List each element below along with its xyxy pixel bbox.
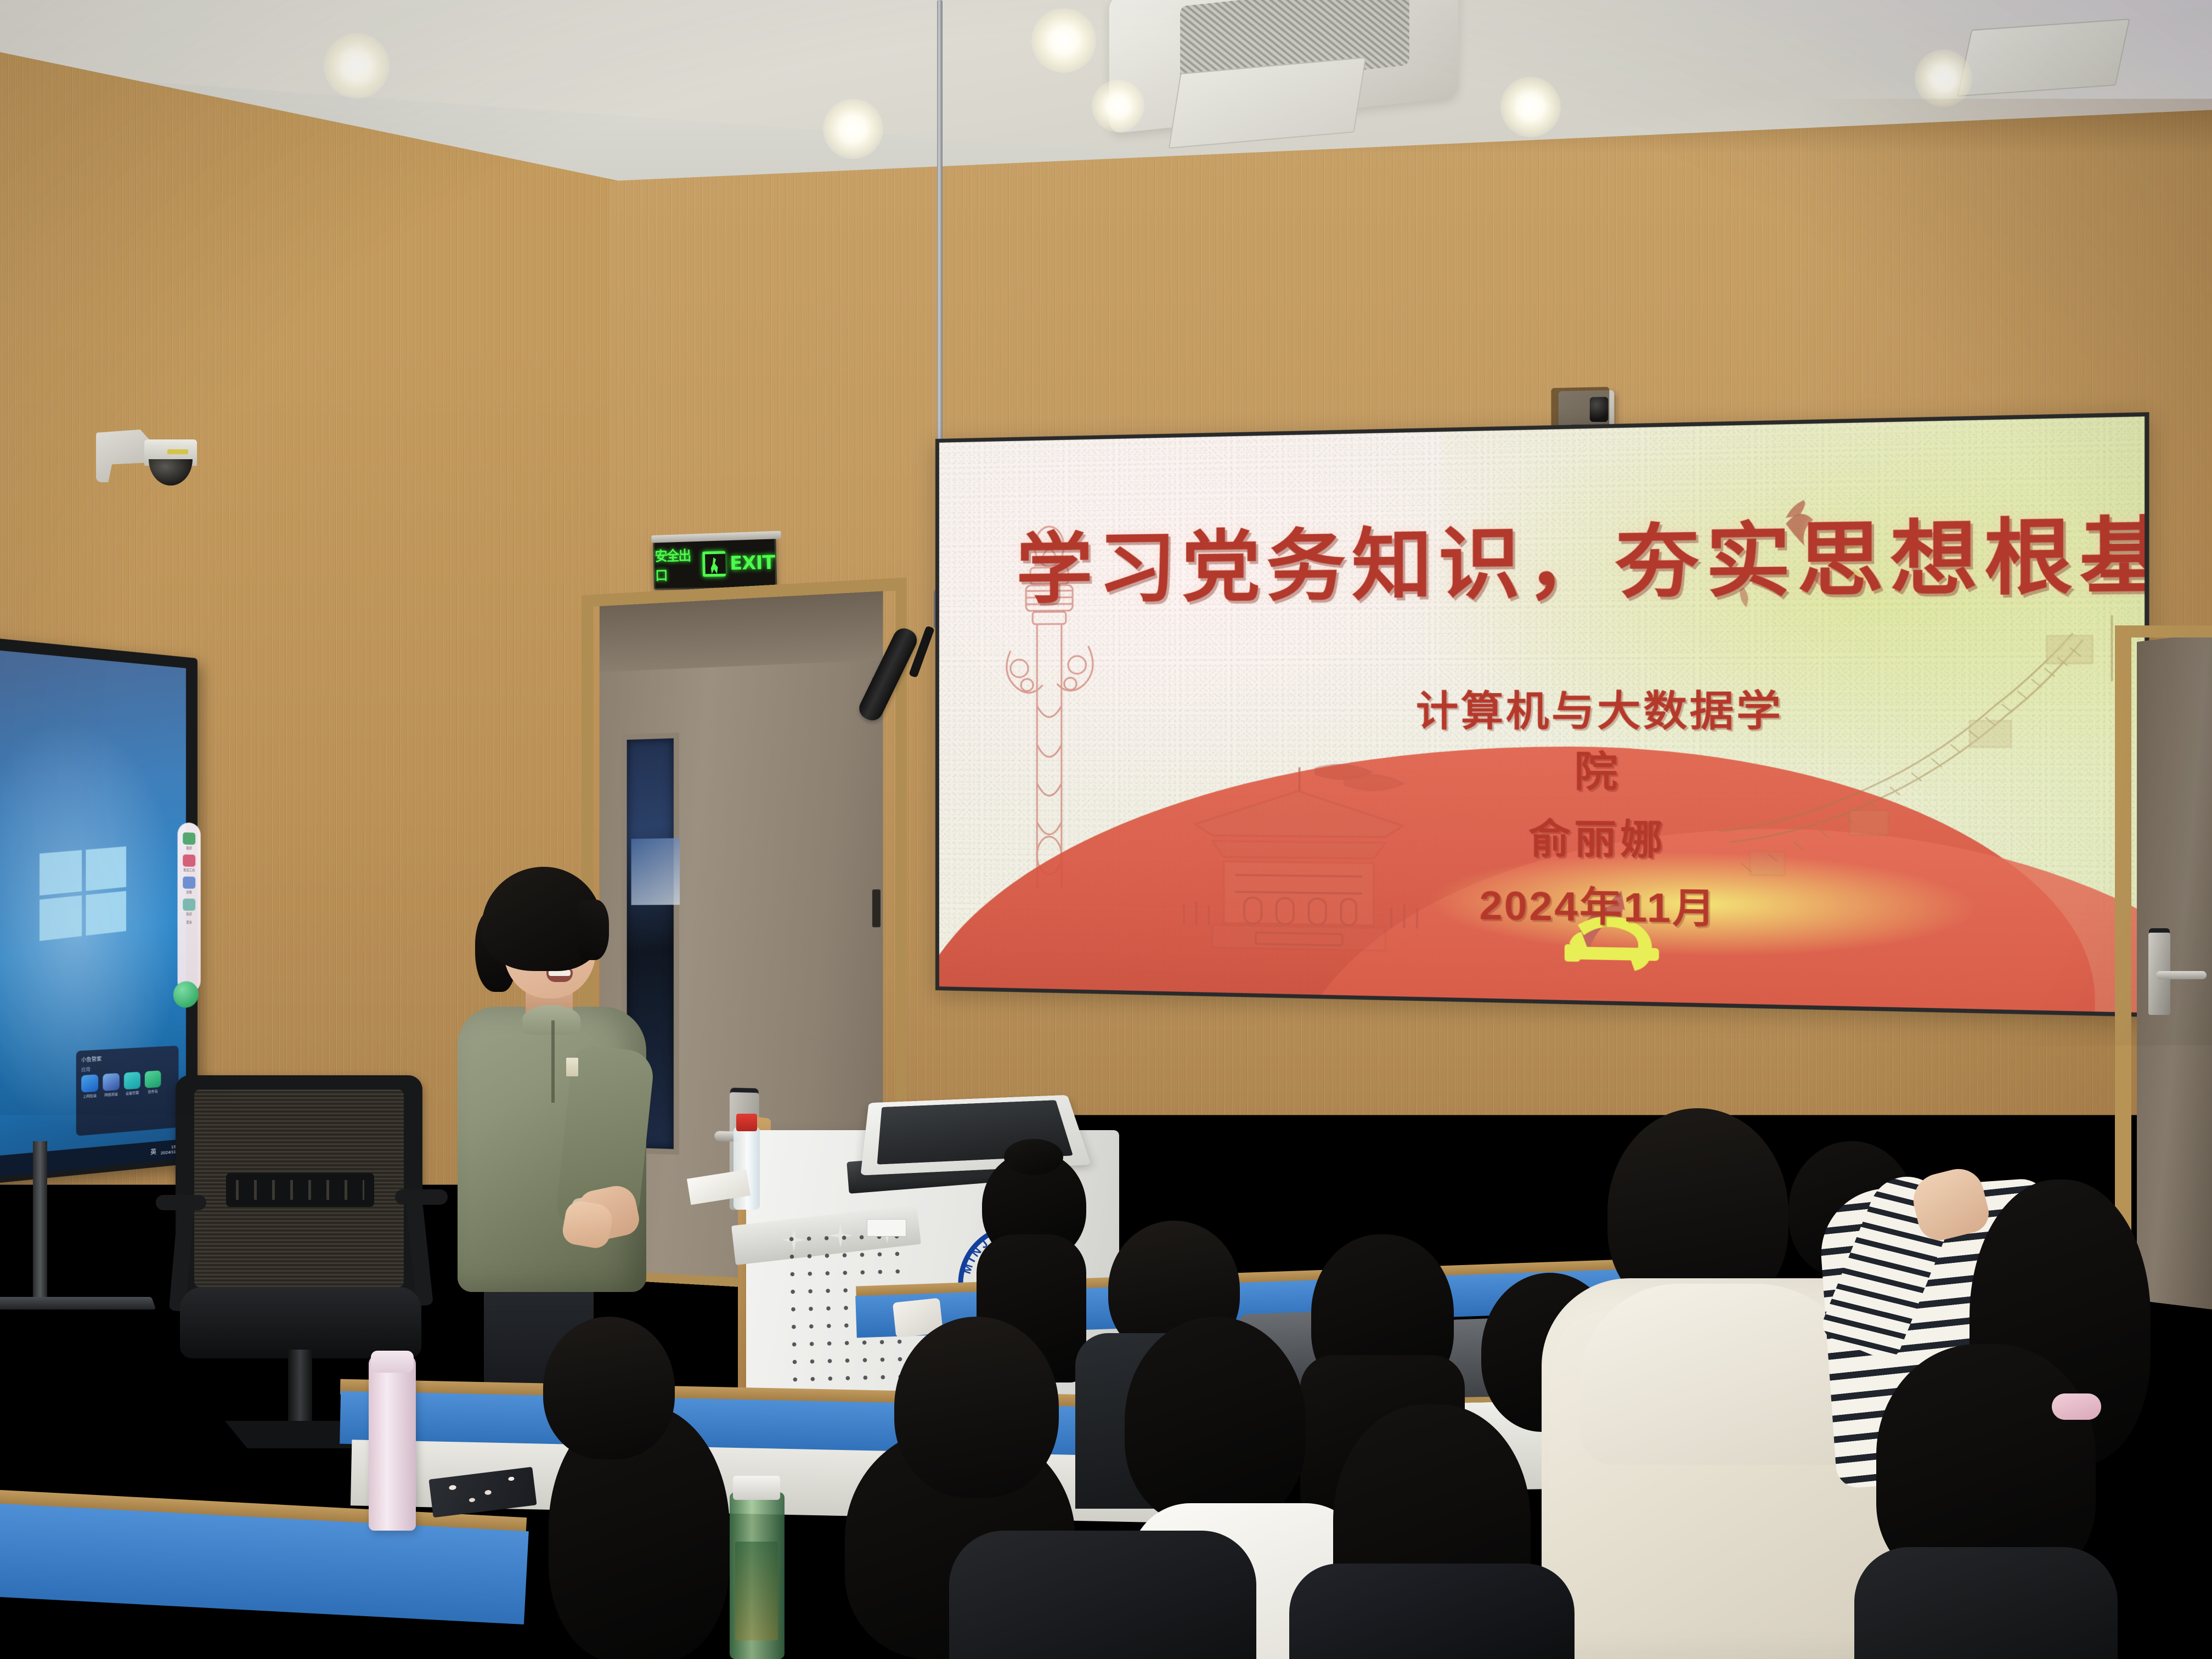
slide-organization: 计算机与大数据学院: [1412, 676, 1787, 799]
water-bottle-cap-icon: [736, 1114, 757, 1131]
app-label-3: 设备管理: [124, 1090, 140, 1096]
dome-camera: [96, 425, 198, 491]
app-icon-4[interactable]: [145, 1070, 161, 1088]
presenter-jacket-placket: [551, 1020, 555, 1103]
camera-brand-label: [167, 449, 188, 454]
downlight-6: [1500, 77, 1561, 137]
tiananmen-gate-icon: [1144, 757, 1456, 975]
slide-title: 学习党务知识，夯实思想根基: [1016, 489, 2145, 618]
ceiling-vent: [1957, 19, 2130, 97]
green-tea-label: [735, 1542, 778, 1640]
toolbar-icon-cast[interactable]: [183, 899, 195, 911]
app-label-4: 软件包: [145, 1088, 161, 1094]
downlight-3: [1031, 8, 1096, 73]
app-label-2: 网络测速: [103, 1091, 120, 1097]
popup-title: 小鱼管家: [81, 1051, 174, 1063]
student-head-front-6: [406, 1514, 636, 1659]
windows-logo-icon: [39, 847, 126, 941]
camera-lens-icon: [1590, 397, 1609, 422]
exit-sign-english-label: EXIT: [730, 551, 775, 574]
running-person-icon: [702, 551, 725, 577]
student-black-top-1: [949, 1531, 1256, 1659]
student-black-top-3: [1854, 1547, 2118, 1659]
downlight-4: [1092, 80, 1144, 132]
hoodie-hood: [1580, 1284, 1865, 1465]
projection-screen-frame: 学习党务知识，夯实思想根基 计算机与大数据学院 俞丽娜 2024年11月: [935, 412, 2149, 1017]
app-icon-3[interactable]: [124, 1071, 140, 1090]
door-hinge-bottom: [872, 889, 881, 927]
toolbar-icon-annotate[interactable]: [183, 854, 195, 867]
display-stand: [33, 1141, 47, 1306]
camera-lens-dome-icon: [149, 459, 193, 486]
presenter-badge: [566, 1058, 578, 1076]
student-head-front-3: [894, 1317, 1059, 1498]
slide-date: 2024年11月: [1412, 873, 1787, 936]
app-icon-2[interactable]: [103, 1073, 120, 1091]
toolbar-label-5: 更多: [178, 920, 201, 924]
student-pink-scrunchie: [2052, 1393, 2101, 1420]
toolbar-label-1: 截屏: [178, 845, 201, 850]
toolbar-icon-screenshot[interactable]: [183, 832, 195, 845]
lectern-spec-label: [867, 1219, 906, 1237]
chair-gas-lift: [288, 1350, 312, 1432]
toolbar-icon-whiteboard[interactable]: [183, 877, 195, 889]
exit-sign-chinese-label: 安全出口: [654, 545, 699, 584]
ime-indicator[interactable]: 英: [150, 1147, 156, 1156]
display-side-toolbar[interactable]: 截屏 批注工具 白板 投屏 更多: [178, 822, 201, 994]
app-icon-1[interactable]: [81, 1074, 98, 1092]
toolbar-label-3: 白板: [178, 890, 201, 894]
downlight-2: [823, 99, 883, 159]
student-head-front-glasses: [543, 1317, 675, 1459]
thermos-bottle: [369, 1355, 416, 1531]
door-right-handle[interactable]: [2156, 971, 2207, 979]
projection-screen: 学习党务知识，夯实思想根基 计算机与大数据学院 俞丽娜 2024年11月: [939, 416, 2145, 1013]
downlight-1: [324, 33, 390, 99]
app-label-1: 上网加速: [81, 1092, 98, 1099]
emergency-exit-sign: 安全出口 EXIT: [653, 537, 777, 590]
thermos-cap-icon: [371, 1351, 414, 1373]
toolbar-label-2: 批注工具: [178, 867, 201, 872]
green-tea-cap-icon: [733, 1476, 780, 1500]
lecture-hall-photo: 安全出口 EXIT: [0, 0, 2212, 1659]
display-foot: [0, 1297, 156, 1310]
chair-seat: [180, 1287, 421, 1358]
toolbar-label-4: 投屏: [178, 912, 201, 916]
presenter-hair-right: [577, 900, 609, 960]
slide-subtitle-block: 计算机与大数据学院 俞丽娜 2024年11月: [1412, 676, 1787, 936]
student-head-front-4: [1125, 1317, 1306, 1525]
student-bun-1: [1004, 1139, 1063, 1175]
student-black-top-2: [1289, 1564, 1575, 1659]
slide-presenter-name: 俞丽娜: [1412, 806, 1787, 868]
chair-lumbar-support: [226, 1173, 374, 1207]
display-screen[interactable]: 小鱼管家 应用 上网加速 网络测速 设备管理: [0, 647, 186, 1181]
